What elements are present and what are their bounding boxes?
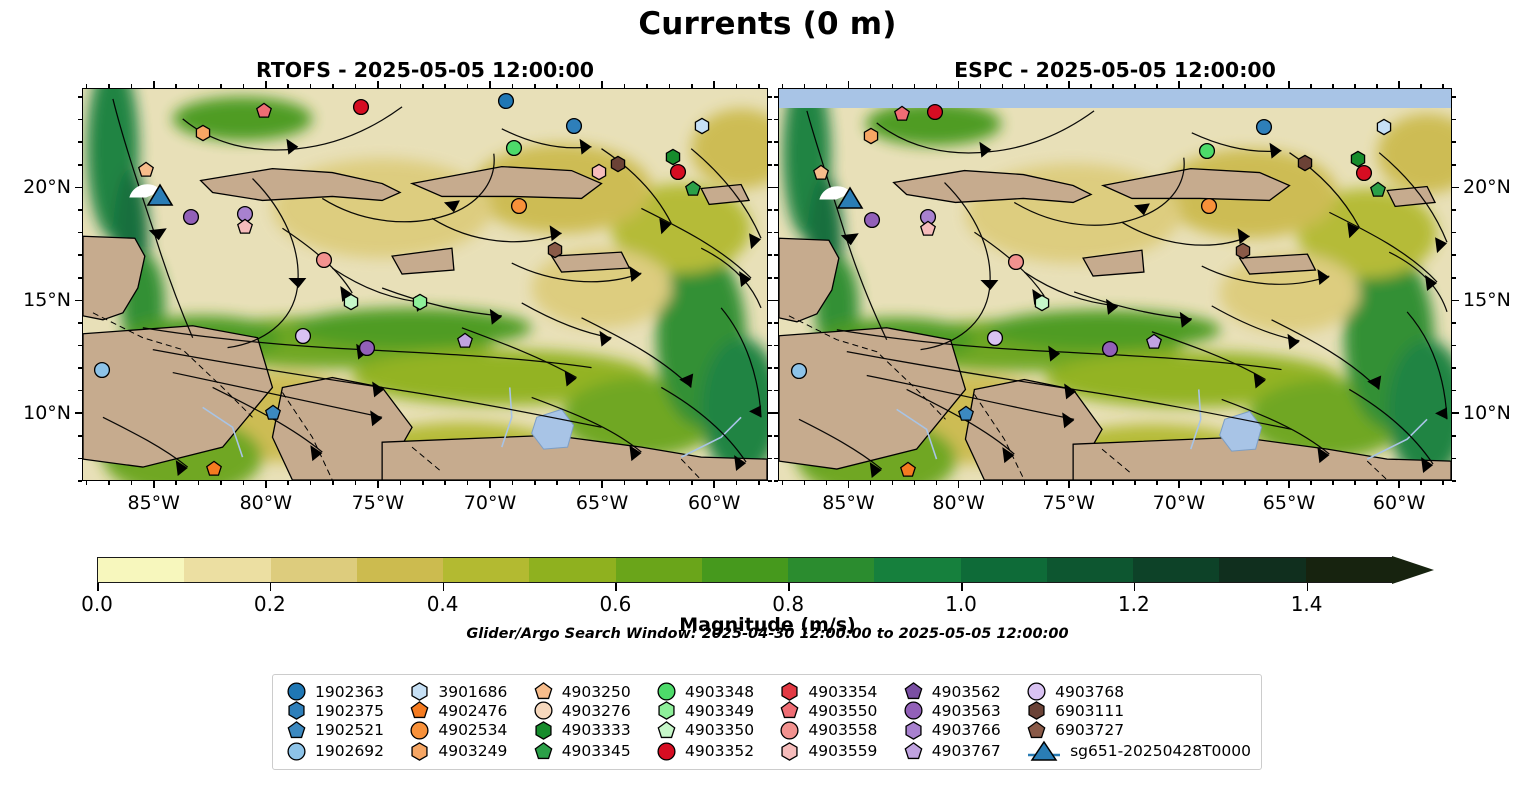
- argo-float-marker[interactable]: [812, 165, 829, 182]
- x-tick-minor: [512, 84, 514, 88]
- colorbar-ticklabel: 0.0: [81, 592, 113, 616]
- x-tick-minor: [1200, 84, 1202, 88]
- x-tick-minor: [782, 481, 784, 485]
- legend-label: 4903559: [808, 742, 877, 760]
- legend-marker-icon: [287, 682, 306, 701]
- colorbar-band-12: [1133, 558, 1219, 582]
- legend-grid: 1902363190237519025211902692390168649024…: [287, 682, 1251, 762]
- x-tick-minor: [444, 84, 446, 88]
- x-tick: [153, 81, 155, 88]
- x-tick-minor: [108, 481, 110, 485]
- x-tick-minor: [1222, 84, 1224, 88]
- x-tick-minor: [556, 84, 558, 88]
- colorbar-band-13: [1219, 558, 1305, 582]
- argo-float-marker[interactable]: [456, 333, 473, 350]
- y-tick-minor: [768, 277, 772, 279]
- x-tick-minor: [1442, 84, 1444, 88]
- y-tick-minor: [774, 345, 778, 347]
- argo-float-marker[interactable]: [1296, 155, 1313, 172]
- x-tick-minor: [804, 84, 806, 88]
- legend-item[interactable]: 4902534: [410, 721, 533, 740]
- x-tick-minor: [287, 84, 289, 88]
- legend-item[interactable]: 4903276: [534, 701, 657, 720]
- legend-item[interactable]: 4903350: [657, 721, 780, 740]
- colorbar-tick: [615, 583, 617, 591]
- legend-marker-icon: [534, 682, 553, 701]
- colorbar-band-6: [616, 558, 702, 582]
- map-axes-espc[interactable]: [778, 88, 1452, 481]
- legend-label: 4903354: [808, 683, 877, 701]
- y-tick-minor: [774, 322, 778, 324]
- legend-marker-icon: [1027, 701, 1046, 720]
- x-tick-minor: [936, 481, 938, 485]
- panel-title-rtofs: RTOFS - 2025-05-05 12:00:00: [82, 58, 768, 82]
- legend-item[interactable]: 4903348: [657, 682, 780, 701]
- y-tick-minor: [78, 435, 82, 437]
- x-tick-minor: [220, 84, 222, 88]
- x-tick: [713, 81, 715, 88]
- y-tick: [1452, 412, 1459, 414]
- argo-float-marker[interactable]: [1034, 295, 1051, 312]
- y-tick-minor: [1452, 322, 1456, 324]
- argo-float-marker[interactable]: [670, 163, 687, 180]
- x-tick: [713, 481, 715, 488]
- legend-marker-icon: [780, 701, 799, 720]
- argo-float-marker[interactable]: [609, 156, 626, 173]
- colorbar-band-2: [271, 558, 357, 582]
- argo-float-marker[interactable]: [1201, 198, 1218, 215]
- x-tick-minor: [804, 481, 806, 485]
- legend-label: 4903558: [808, 721, 877, 739]
- argo-float-marker[interactable]: [237, 218, 254, 235]
- x-tick-label: 60°W: [688, 492, 740, 514]
- legend-item[interactable]: 6903727: [1027, 721, 1251, 740]
- y-tick-label: 10°N: [0, 402, 71, 424]
- colorbar-tick: [443, 583, 445, 591]
- legend-item[interactable]: 4903354: [780, 682, 903, 701]
- argo-float-marker[interactable]: [94, 361, 111, 378]
- legend-label: 1902375: [315, 702, 384, 720]
- x-tick-minor: [624, 84, 626, 88]
- legend-marker-icon: [410, 742, 429, 761]
- argo-float-marker[interactable]: [256, 102, 273, 119]
- y-tick-minor: [78, 345, 82, 347]
- glider-marker-sg651[interactable]: [147, 183, 173, 207]
- x-tick-minor: [332, 481, 334, 485]
- x-tick-minor: [1442, 481, 1444, 485]
- x-tick: [1178, 481, 1180, 488]
- y-tick-minor: [1452, 435, 1456, 437]
- x-tick-minor: [914, 84, 916, 88]
- legend-item[interactable]: 4903563: [904, 701, 1027, 720]
- y-tick-minor: [768, 345, 772, 347]
- y-tick-minor: [774, 209, 778, 211]
- x-tick-minor: [579, 481, 581, 485]
- y-tick-minor: [774, 367, 778, 369]
- legend-item[interactable]: 4903249: [410, 740, 533, 762]
- legend-label: sg651-20250428T0000: [1070, 742, 1251, 760]
- legend-label: 4903350: [685, 721, 754, 739]
- argo-float-marker[interactable]: [511, 198, 528, 215]
- y-tick: [75, 300, 82, 302]
- legend-item[interactable]: 4903250: [534, 682, 657, 701]
- x-tick-label: 70°W: [1153, 492, 1205, 514]
- x-tick-minor: [86, 481, 88, 485]
- legend-item[interactable]: 4903345: [534, 740, 657, 762]
- x-tick-label: 75°W: [1043, 492, 1095, 514]
- argo-float-marker[interactable]: [1101, 341, 1118, 358]
- legend-label: 4903768: [1055, 683, 1124, 701]
- x-tick-minor: [1024, 481, 1026, 485]
- legend-item[interactable]: 1902521: [287, 721, 410, 740]
- x-tick-minor: [1200, 481, 1202, 485]
- y-tick-minor: [774, 480, 778, 482]
- x-tick-minor: [355, 84, 357, 88]
- argo-float-marker[interactable]: [1007, 254, 1024, 271]
- legend-item[interactable]: 1902363: [287, 682, 410, 701]
- x-tick-minor: [86, 84, 88, 88]
- x-tick-minor: [1222, 481, 1224, 485]
- x-tick-minor: [355, 481, 357, 485]
- x-tick-minor: [892, 84, 894, 88]
- argo-float-marker[interactable]: [315, 252, 332, 269]
- x-tick-minor: [108, 84, 110, 88]
- x-tick: [1288, 481, 1290, 488]
- y-tick: [771, 187, 778, 189]
- argo-float-marker[interactable]: [194, 124, 211, 141]
- x-tick-minor: [1156, 481, 1158, 485]
- x-tick-minor: [1112, 481, 1114, 485]
- argo-float-marker[interactable]: [206, 461, 223, 478]
- legend-marker-icon: [410, 721, 429, 740]
- argo-float-marker[interactable]: [685, 180, 702, 197]
- legend-label: 4903563: [932, 702, 1001, 720]
- y-tick-minor: [774, 435, 778, 437]
- argo-float-marker[interactable]: [546, 242, 563, 259]
- argo-float-marker[interactable]: [900, 462, 917, 479]
- legend-label: 4903550: [808, 702, 877, 720]
- x-tick-minor: [422, 84, 424, 88]
- legend-marker-icon: [287, 721, 306, 740]
- y-tick-label: 10°N: [1463, 402, 1511, 424]
- argo-float-marker[interactable]: [505, 139, 522, 156]
- x-tick: [1288, 81, 1290, 88]
- colorbar-band-4: [443, 558, 529, 582]
- y-tick-minor: [768, 322, 772, 324]
- x-tick-minor: [624, 481, 626, 485]
- y-tick-minor: [78, 232, 82, 234]
- x-tick-minor: [287, 481, 289, 485]
- colorbar-band-5: [529, 558, 615, 582]
- y-tick-label: 20°N: [1463, 176, 1511, 198]
- legend-item[interactable]: 4903767: [904, 740, 1027, 762]
- legend-item[interactable]: 4903352: [657, 740, 780, 762]
- colorbar-ticklabel: 0.8: [772, 592, 804, 616]
- x-tick-minor: [691, 84, 693, 88]
- x-tick: [489, 481, 491, 488]
- legend-marker-icon: [780, 742, 799, 761]
- y-tick-minor: [1452, 164, 1456, 166]
- x-tick-minor: [579, 84, 581, 88]
- argo-float-marker[interactable]: [1370, 181, 1387, 198]
- legend-marker-icon: [534, 742, 553, 761]
- x-tick: [848, 481, 850, 488]
- colorbar-band-3: [357, 558, 443, 582]
- x-tick-minor: [310, 481, 312, 485]
- y-tick-label: 20°N: [0, 176, 71, 198]
- y-tick-minor: [78, 367, 82, 369]
- legend-marker-icon: [534, 721, 553, 740]
- argo-float-marker[interactable]: [358, 339, 375, 356]
- argo-float-marker[interactable]: [1355, 165, 1372, 182]
- legend-item[interactable]: 4903333: [534, 721, 657, 740]
- x-tick-minor: [758, 481, 760, 485]
- y-tick: [75, 187, 82, 189]
- colorbar-ticklabel: 1.4: [1291, 592, 1323, 616]
- x-tick-minor: [1332, 84, 1334, 88]
- x-tick-minor: [980, 84, 982, 88]
- x-tick-minor: [131, 84, 133, 88]
- x-tick: [1398, 81, 1400, 88]
- colorbar-band-7: [702, 558, 788, 582]
- x-tick-minor: [1002, 481, 1004, 485]
- y-tick-minor: [774, 254, 778, 256]
- argo-float-marker[interactable]: [920, 220, 937, 237]
- glider-marker-sg651[interactable]: [837, 186, 863, 210]
- y-tick-minor: [78, 277, 82, 279]
- argo-float-marker[interactable]: [1199, 142, 1216, 159]
- x-tick-minor: [1376, 84, 1378, 88]
- figure-canvas: Currents (0 m) RTOFS - 2025-05-05 12:00:…: [0, 0, 1535, 802]
- x-tick-label: 80°W: [932, 492, 984, 514]
- colorbar-extend-arrow: [1392, 556, 1434, 584]
- legend-marker-icon: [904, 742, 923, 761]
- legend-label: 1902692: [315, 742, 384, 760]
- figure-suptitle: Currents (0 m): [0, 6, 1535, 42]
- y-tick-minor: [1452, 119, 1456, 121]
- colorbar-tick: [1134, 583, 1136, 591]
- y-tick-minor: [78, 480, 82, 482]
- y-tick-minor: [768, 96, 772, 98]
- argo-float-marker[interactable]: [1375, 119, 1392, 136]
- y-tick-minor: [1452, 345, 1456, 347]
- x-tick-minor: [782, 84, 784, 88]
- legend-item[interactable]: 3901686: [410, 682, 533, 701]
- argo-float-marker[interactable]: [863, 211, 880, 228]
- y-tick-minor: [774, 458, 778, 460]
- x-tick-minor: [1002, 84, 1004, 88]
- colorbar-band-0: [98, 558, 184, 582]
- x-tick: [601, 481, 603, 488]
- y-tick-minor: [1452, 480, 1456, 482]
- x-tick: [1068, 481, 1070, 488]
- colorbar-tick: [1307, 583, 1309, 591]
- x-tick-label: 80°W: [240, 492, 292, 514]
- x-tick-minor: [243, 84, 245, 88]
- y-tick-minor: [768, 119, 772, 121]
- x-tick-minor: [220, 481, 222, 485]
- legend-item[interactable]: 4903766: [904, 721, 1027, 740]
- x-tick-minor: [826, 84, 828, 88]
- argo-float-marker[interactable]: [1256, 119, 1273, 136]
- legend-item[interactable]: 4903550: [780, 701, 903, 720]
- legend-label: 4902476: [438, 702, 507, 720]
- x-tick: [153, 481, 155, 488]
- colorbar[interactable]: [97, 557, 1435, 583]
- x-tick-minor: [1310, 481, 1312, 485]
- argo-float-marker[interactable]: [1145, 334, 1162, 351]
- argo-float-marker[interactable]: [295, 328, 312, 345]
- x-tick-label: 70°W: [464, 492, 516, 514]
- x-tick-minor: [131, 481, 133, 485]
- x-tick-minor: [1134, 481, 1136, 485]
- x-tick-minor: [1244, 481, 1246, 485]
- legend-item[interactable]: 1902692: [287, 740, 410, 762]
- colorbar-band-8: [788, 558, 874, 582]
- x-tick-minor: [1266, 84, 1268, 88]
- x-tick-minor: [1046, 84, 1048, 88]
- y-tick-minor: [768, 458, 772, 460]
- y-tick-minor: [78, 141, 82, 143]
- legend-marker-icon: [287, 701, 306, 720]
- colorbar-band-11: [1047, 558, 1133, 582]
- y-tick: [75, 412, 82, 414]
- x-tick-minor: [467, 84, 469, 88]
- argo-float-marker[interactable]: [497, 92, 514, 109]
- y-tick-minor: [78, 322, 82, 324]
- y-tick-minor: [768, 141, 772, 143]
- x-tick: [958, 81, 960, 88]
- argo-float-marker[interactable]: [353, 99, 370, 116]
- x-tick-minor: [1376, 481, 1378, 485]
- y-tick: [1452, 187, 1459, 189]
- x-tick-minor: [400, 84, 402, 88]
- y-tick-minor: [768, 435, 772, 437]
- x-tick-minor: [691, 481, 693, 485]
- legend-item[interactable]: 6903111: [1027, 701, 1251, 720]
- argo-float-marker[interactable]: [893, 106, 910, 123]
- legend-marker-icon: [657, 682, 676, 701]
- x-tick-minor: [870, 84, 872, 88]
- x-tick-minor: [646, 481, 648, 485]
- legend-label: 4903276: [562, 702, 631, 720]
- x-tick-minor: [914, 481, 916, 485]
- x-tick-minor: [556, 481, 558, 485]
- colorbar-tick: [97, 583, 99, 591]
- colorbar-ticklabel: 1.2: [1118, 592, 1150, 616]
- colorbar-band-1: [184, 558, 270, 582]
- y-tick-minor: [774, 96, 778, 98]
- argo-float-marker[interactable]: [411, 294, 428, 311]
- colorbar-tick: [961, 583, 963, 591]
- colorbar-tick: [788, 583, 790, 591]
- colorbar-ticklabel: 0.6: [599, 592, 631, 616]
- legend-item[interactable]: 4903349: [657, 701, 780, 720]
- argo-float-marker[interactable]: [137, 162, 154, 179]
- x-tick-minor: [1024, 84, 1026, 88]
- x-tick-label: 75°W: [352, 492, 404, 514]
- x-tick-minor: [1112, 84, 1114, 88]
- legend-box[interactable]: 1902363190237519025211902692390168649024…: [272, 674, 1262, 770]
- x-tick: [1398, 481, 1400, 488]
- legend-item[interactable]: 4903558: [780, 721, 903, 740]
- x-tick-minor: [534, 84, 536, 88]
- x-tick-minor: [1266, 481, 1268, 485]
- legend-item[interactable]: 4902476: [410, 701, 533, 720]
- argo-float-marker[interactable]: [591, 163, 608, 180]
- legend-label: 4903766: [932, 721, 1001, 739]
- legend-label: 4903345: [562, 742, 631, 760]
- x-tick-minor: [826, 481, 828, 485]
- legend-marker-icon: [410, 701, 429, 720]
- y-tick-minor: [78, 119, 82, 121]
- y-tick-minor: [774, 390, 778, 392]
- map-axes-rtofs[interactable]: [82, 88, 768, 481]
- colorbar-band-14: [1306, 558, 1392, 582]
- x-tick-minor: [646, 84, 648, 88]
- argo-float-marker[interactable]: [694, 118, 711, 135]
- x-tick-minor: [736, 84, 738, 88]
- argo-float-marker[interactable]: [265, 404, 282, 421]
- y-tick-minor: [768, 232, 772, 234]
- legend-item[interactable]: 4903559: [780, 740, 903, 762]
- y-tick-minor: [768, 390, 772, 392]
- legend-label: 4903349: [685, 702, 754, 720]
- x-tick: [265, 481, 267, 488]
- y-tick: [771, 412, 778, 414]
- argo-float-marker[interactable]: [566, 118, 583, 135]
- colorbar-ticklabel: 0.4: [427, 592, 459, 616]
- argo-float-marker[interactable]: [1234, 243, 1251, 260]
- legend-item[interactable]: sg651-20250428T0000: [1027, 740, 1251, 762]
- x-tick-label: 85°W: [128, 492, 180, 514]
- legend-label: 6903727: [1055, 721, 1124, 739]
- argo-float-marker[interactable]: [987, 330, 1004, 347]
- colorbar-gradient: [97, 557, 1393, 583]
- argo-float-marker[interactable]: [863, 127, 880, 144]
- x-tick-label: 60°W: [1373, 492, 1425, 514]
- x-tick-minor: [310, 84, 312, 88]
- x-tick: [377, 81, 379, 88]
- y-tick: [1452, 300, 1459, 302]
- x-tick-minor: [669, 84, 671, 88]
- x-tick-minor: [1046, 481, 1048, 485]
- legend-item[interactable]: 4903562: [904, 682, 1027, 701]
- legend-label: 1902363: [315, 683, 384, 701]
- x-tick-minor: [1420, 481, 1422, 485]
- argo-float-marker[interactable]: [957, 406, 974, 423]
- argo-float-marker[interactable]: [343, 294, 360, 311]
- y-tick-minor: [1452, 367, 1456, 369]
- legend-label: 4903767: [932, 742, 1001, 760]
- x-tick-minor: [1420, 84, 1422, 88]
- x-tick-minor: [1332, 481, 1334, 485]
- argo-float-marker[interactable]: [926, 103, 943, 120]
- argo-float-marker[interactable]: [183, 209, 200, 226]
- x-tick-minor: [1090, 84, 1092, 88]
- y-tick-label: 15°N: [0, 289, 71, 311]
- y-tick-minor: [774, 232, 778, 234]
- y-tick-minor: [1452, 209, 1456, 211]
- x-tick-minor: [758, 84, 760, 88]
- legend-item[interactable]: 4903768: [1027, 682, 1251, 701]
- x-tick-minor: [1244, 84, 1246, 88]
- legend-marker-icon: [1027, 721, 1046, 740]
- y-tick-minor: [1452, 390, 1456, 392]
- legend-item[interactable]: 1902375: [287, 701, 410, 720]
- argo-float-marker[interactable]: [791, 363, 808, 380]
- x-tick-minor: [870, 481, 872, 485]
